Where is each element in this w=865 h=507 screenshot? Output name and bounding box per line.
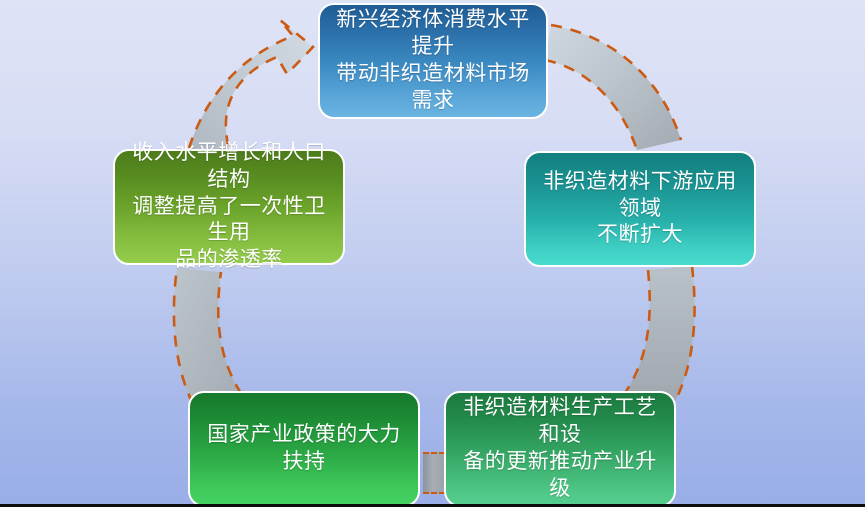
node-left[interactable]: 收入水平增长和人口结构 调整提高了一次性卫生用 品的渗透率: [113, 149, 345, 265]
node-right-label: 非织造材料下游应用领域 不断扩大: [538, 169, 742, 250]
node-bottom-left-label: 国家产业政策的大力扶持: [202, 422, 406, 476]
connector-bottom-straight: [423, 452, 445, 494]
node-bottom-right-label: 非织造材料生产工艺和设 备的更新推动产业升级: [458, 395, 662, 503]
cycle-diagram-canvas: 新兴经济体消费水平提升 带动非织造材料市场需求 非织造材料下游应用领域 不断扩大…: [0, 0, 865, 507]
node-left-label: 收入水平增长和人口结构 调整提高了一次性卫生用 品的渗透率: [127, 140, 331, 274]
node-right[interactable]: 非织造材料下游应用领域 不断扩大: [524, 151, 756, 267]
arc-top-to-right: [545, 25, 681, 150]
node-bottom-right[interactable]: 非织造材料生产工艺和设 备的更新推动产业升级: [444, 391, 676, 507]
node-top[interactable]: 新兴经济体消费水平提升 带动非织造材料市场需求: [318, 3, 548, 119]
arc-left-to-top-with-arrowhead: [189, 20, 313, 156]
node-top-label: 新兴经济体消费水平提升 带动非织造材料市场需求: [332, 7, 534, 115]
node-bottom-left[interactable]: 国家产业政策的大力扶持: [188, 391, 420, 507]
